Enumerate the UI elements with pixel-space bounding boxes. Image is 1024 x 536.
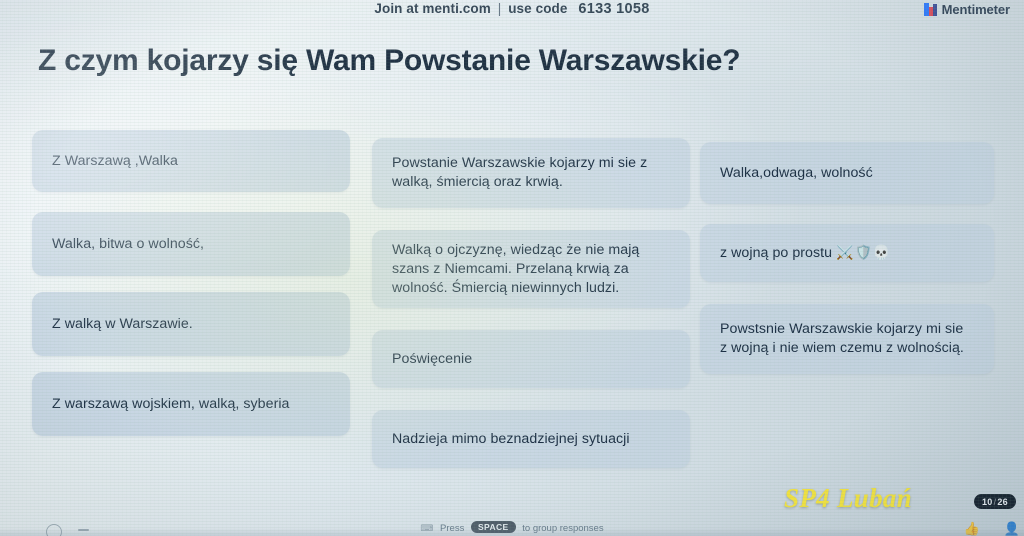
thumbs-up-icon[interactable]: 👍: [964, 523, 980, 536]
response-card[interactable]: Nadzieja mimo beznadziejnej sytuacji: [372, 410, 690, 468]
response-column-3: Walka,odwaga, wolność z wojną po prostu …: [700, 130, 994, 390]
response-card[interactable]: Z warszawą wojskiem, walką, syberia: [32, 372, 350, 436]
response-counter-badge: 10/26: [974, 494, 1016, 509]
participant-icon[interactable]: 👤: [1004, 523, 1020, 536]
mentimeter-logo-icon: [924, 3, 937, 16]
page-title: Z czym kojarzy się Wam Powstanie Warszaw…: [38, 44, 740, 78]
bottom-right-icons: 👍 👤: [964, 523, 1020, 536]
counter-total: 26: [997, 497, 1008, 507]
bottom-bar: ⌨ Press SPACE to group responses: [0, 514, 1024, 536]
join-code: 6133 1058: [578, 1, 649, 17]
response-card[interactable]: Poświęcenie: [372, 330, 690, 388]
response-column-2: Powstanie Warszawskie kojarzy mi sie z w…: [372, 130, 690, 484]
response-text-body: z wojną po prostu: [720, 245, 832, 261]
group-responses-label: to group responses: [522, 523, 603, 534]
response-column-1: Z Warszawą ,Walka Walka, bitwa o wolność…: [32, 130, 350, 452]
response-text: Walka, bitwa o wolność,: [52, 235, 204, 254]
mentimeter-brand: Mentimeter: [924, 2, 1010, 17]
counter-current: 10: [982, 497, 993, 507]
response-text: Walka,odwaga, wolność: [720, 164, 873, 183]
counter-separator: /: [994, 497, 997, 507]
watermark-label: SP4 Lubań: [784, 483, 912, 514]
response-text: Z walką w Warszawie.: [52, 315, 193, 334]
use-code-label: use code: [508, 1, 567, 16]
response-card[interactable]: Powstanie Warszawskie kojarzy mi sie z w…: [372, 138, 690, 208]
response-card[interactable]: Walką o ojczyznę, wiedząc że nie mają sz…: [372, 230, 690, 308]
keyboard-icon: ⌨: [420, 523, 433, 534]
response-text: Poświęcenie: [392, 350, 472, 369]
response-card[interactable]: Walka, bitwa o wolność,: [32, 212, 350, 276]
response-text: Nadzieja mimo beznadziejnej sytuacji: [392, 430, 630, 449]
response-text: Z warszawą wojskiem, walką, syberia: [52, 395, 290, 414]
group-responses-hint: ⌨ Press SPACE to group responses: [0, 521, 1024, 534]
brand-name-label: Mentimeter: [942, 2, 1010, 17]
join-instructions: Join at menti.com | use code 6133 1058: [0, 1, 1024, 17]
response-card[interactable]: Z Warszawą ,Walka: [32, 130, 350, 192]
response-text: Powstsnie Warszawskie kojarzy mi sie z w…: [720, 320, 974, 358]
responses-board: Z Warszawą ,Walka Walka, bitwa o wolność…: [0, 130, 1024, 490]
response-text: Z Warszawą ,Walka: [52, 152, 178, 171]
join-at-label: Join at menti.com: [374, 1, 490, 16]
response-text: z wojną po prostu ⚔️🛡️💀: [720, 244, 891, 263]
response-card[interactable]: z wojną po prostu ⚔️🛡️💀: [700, 224, 994, 282]
response-card[interactable]: Walka,odwaga, wolność: [700, 142, 994, 204]
mentimeter-slide-screen: Join at menti.com | use code 6133 1058 M…: [0, 0, 1024, 536]
response-text: Powstanie Warszawskie kojarzy mi sie z w…: [392, 154, 670, 192]
space-key-badge[interactable]: SPACE: [471, 521, 516, 533]
join-divider: |: [498, 1, 502, 16]
response-card[interactable]: Z walką w Warszawie.: [32, 292, 350, 356]
response-text: Walką o ojczyznę, wiedząc że nie mają sz…: [392, 241, 670, 298]
top-bar: Join at menti.com | use code 6133 1058 M…: [0, 0, 1024, 22]
response-card[interactable]: Powstsnie Warszawskie kojarzy mi sie z w…: [700, 304, 994, 374]
response-emoji: ⚔️🛡️💀: [836, 245, 891, 261]
press-label: Press: [440, 523, 464, 534]
